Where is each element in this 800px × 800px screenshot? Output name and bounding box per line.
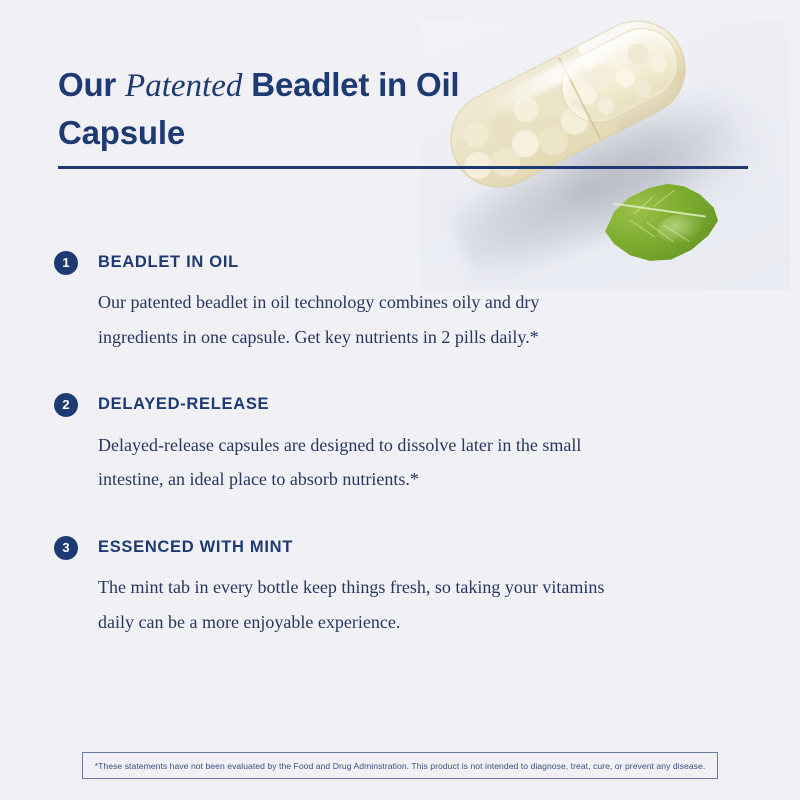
product-feature-page: Our Patented Beadlet in Oil Capsule 1 BE…	[0, 0, 800, 800]
feature-title: BEADLET IN OIL	[98, 249, 694, 275]
page-title: Our Patented Beadlet in Oil Capsule	[58, 62, 478, 157]
feature-number-badge: 3	[54, 536, 78, 560]
feature-description: Delayed-release capsules are designed to…	[98, 428, 618, 497]
title-part-one: Our	[58, 66, 125, 103]
leaf-vein	[633, 197, 653, 215]
leaf-vein	[647, 222, 674, 242]
capsule-transparent-window	[549, 16, 690, 136]
feature-item: 2 DELAYED-RELEASE Delayed-release capsul…	[54, 391, 694, 496]
disclaimer-text: *These statements have not been evaluate…	[95, 761, 706, 771]
feature-item: 3 ESSENCED WITH MINT The mint tab in eve…	[54, 534, 694, 639]
horizontal-divider	[58, 166, 748, 169]
feature-title: ESSENCED WITH MINT	[98, 534, 694, 560]
title-emphasis-patented: Patented	[125, 68, 242, 104]
capsule-highlight	[473, 26, 642, 124]
feature-description: The mint tab in every bottle keep things…	[98, 570, 618, 639]
leaf-highlight	[656, 211, 707, 246]
disclaimer-box: *These statements have not been evaluate…	[82, 752, 718, 779]
feature-description: Our patented beadlet in oil technology c…	[98, 285, 618, 354]
leaf-midrib	[612, 202, 706, 217]
leaf-vein	[654, 190, 675, 207]
capsule-shadow-soft	[554, 70, 786, 261]
leaf-vein	[664, 225, 691, 242]
feature-list: 1 BEADLET IN OIL Our patented beadlet in…	[54, 249, 694, 639]
capsule-seam	[558, 57, 602, 140]
leaf-vein	[629, 220, 655, 238]
feature-number-badge: 1	[54, 251, 78, 275]
feature-number-badge: 2	[54, 393, 78, 417]
feature-item: 1 BEADLET IN OIL Our patented beadlet in…	[54, 249, 694, 354]
feature-title: DELAYED-RELEASE	[98, 391, 694, 417]
